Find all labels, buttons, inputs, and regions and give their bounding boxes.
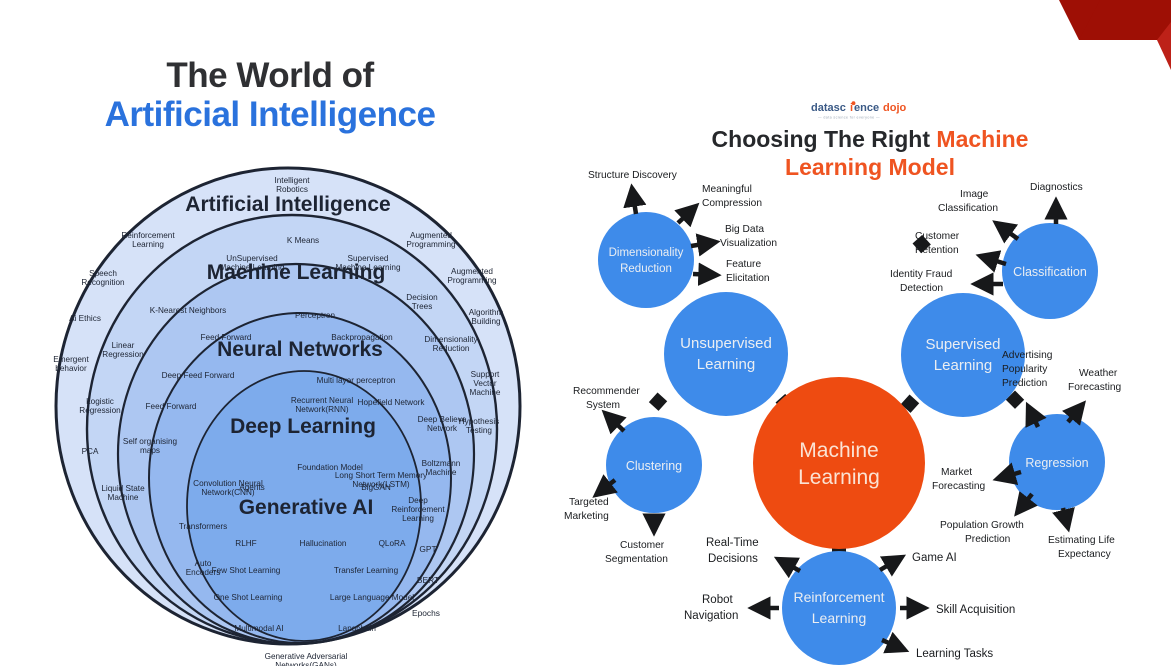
leaf-recommender-system-l2: System (586, 400, 620, 411)
unsupervised-label-line2: Learning (697, 356, 755, 373)
leaf-big-data-visualization-l2: Visualization (720, 238, 777, 249)
leaf-weather-forecasting-l2: Forecasting (1068, 382, 1122, 393)
gen-term-hallucination: Hallucination (300, 539, 347, 548)
ml-term-logistic-regression-l2: Regression (79, 406, 121, 415)
ml-term-dimensionality-reduction-l2: Reduction (433, 344, 470, 353)
node-unsupervised-learning (664, 292, 788, 416)
ml-term-logistic-regression-l1: Logistic (86, 397, 114, 406)
leaf-learning-tasks: Learning Tasks (916, 648, 993, 660)
leaf-meaningful-compression-l2: Compression (702, 198, 762, 209)
reinforcement-label-line2: Learning (812, 610, 867, 626)
dl-term-rnn-l1: Recurrent Neural (291, 396, 354, 405)
leaf-customer-segmentation-l2: Segmentation (605, 554, 668, 565)
leaf-image-classification-l1: Image (960, 189, 989, 200)
ai-term-augmented-programming-b-l2: Programming (447, 276, 497, 285)
nn-term-liquid-state-machine-l2: Machine (108, 493, 139, 502)
svg-text:— data science for everyone —: — data science for everyone — (818, 116, 880, 120)
unsupervised-label-line1: Unsupervised (680, 335, 772, 352)
ml-term-boltzmann-machine-l1: Boltzmann (422, 459, 461, 468)
supervised-label-line2: Learning (934, 357, 992, 374)
leaf-estimating-life-l1: Estimating Life (1048, 535, 1115, 546)
leaf-market-forecasting-l2: Forecasting (932, 481, 986, 492)
brand-logo: datasc i ence dojo — data science for ev… (560, 99, 1171, 121)
clustering-label: Clustering (626, 459, 682, 473)
nn-term-deep-reinforcement-learning-l1: Deep (408, 496, 428, 505)
svg-text:datasc: datasc (811, 102, 846, 114)
arrow-big-data-visualization (691, 242, 716, 246)
ml-model-map: Machine Learning Unsupervised Learning D… (560, 150, 1171, 672)
dl-term-lstm-l1: Long Short Term Memory (335, 471, 428, 480)
ai-term-augmented-programming-b-l1: Augmented (451, 267, 493, 276)
ml-term-k-means: K Means (287, 236, 319, 245)
ml-term-unsupervised-ml-l2: Machine Learning (219, 263, 285, 272)
leaf-customer-retention-l2: Retention (915, 245, 959, 256)
ai-term-speech-recognition-l1: Speech (89, 269, 117, 278)
right-title-highlight-1: Machine (936, 126, 1028, 152)
nn-term-feed-forward-a: Feed Forward (201, 333, 252, 342)
leaf-recommender-system-l1: Recommender (573, 386, 640, 397)
svg-text:ence: ence (854, 102, 879, 114)
nn-term-self-organising-maps-l1: Self organising (123, 437, 178, 446)
arrow-image-classification (996, 223, 1018, 239)
poster-canvas: The World of Artificial Intelligence Art… (0, 0, 1171, 672)
leaf-weather-forecasting-l1: Weather (1079, 368, 1118, 379)
nn-term-perceptron: Perceptron (295, 311, 335, 320)
ai-term-reinforcement-learning-l2: Learning (132, 240, 164, 249)
arrow-game-ai (880, 557, 902, 570)
nn-term-deep-feed-forward: Deep Feed Forward (162, 371, 235, 380)
gen-term-langchain: Langchain (338, 624, 376, 633)
ring-title-generative-ai: Generative AI (239, 496, 374, 519)
leaf-population-growth-l2: Prediction (965, 534, 1010, 545)
right-panel-ml-model-map: datasc i ence dojo — data science for ev… (560, 0, 1171, 672)
ring-title-artificial-intelligence: Artificial Intelligence (185, 193, 390, 216)
gen-term-transfer-learning: Transfer Learning (334, 566, 399, 575)
nn-term-liquid-state-machine-l1: Liquid State (101, 484, 145, 493)
leaf-image-classification-l2: Classification (938, 203, 998, 214)
arrow-estimating-life-expectancy (1063, 508, 1068, 528)
gen-term-agents: Agents (239, 483, 265, 492)
leaf-game-ai: Game AI (912, 552, 957, 564)
ai-term-speech-recognition-l2: Recognition (81, 278, 125, 287)
regression-label: Regression (1025, 456, 1088, 470)
leaf-real-time-decisions-l1: Real-Time (706, 537, 759, 549)
arrow-learning-tasks (882, 640, 905, 650)
leaf-structure-discovery: Structure Discovery (588, 170, 678, 181)
gen-term-gans-l1: Generative Adversarial (265, 652, 348, 661)
nn-term-backpropagation: Backpropagation (331, 333, 393, 342)
leaf-identity-fraud-detection-l1: Identity Fraud (890, 269, 953, 280)
ai-term-support-vector-machine-l1: Support (471, 370, 500, 379)
stub-unsup-clustering (649, 393, 667, 411)
ai-term-emergent-behavior-l2: behavior (55, 364, 87, 373)
leaf-customer-segmentation-l1: Customer (620, 540, 665, 551)
nn-term-self-organising-maps-l2: maps (140, 446, 160, 455)
left-title-line1: The World of (0, 58, 540, 95)
left-title-block: The World of Artificial Intelligence (0, 58, 540, 134)
ai-term-support-vector-machine-l3: Machine (470, 388, 501, 397)
ai-term-augmented-programming-a-l1: Augmented (410, 231, 452, 240)
gen-term-gans-l2: Networks(GANs) (275, 661, 337, 666)
dimred-label-line2: Reduction (620, 263, 672, 275)
leaf-customer-retention-l1: Customer (915, 231, 960, 242)
ml-term-pca: PCA (82, 447, 99, 456)
nn-term-feed-forward-b: Feed Forward (146, 402, 197, 411)
ml-term-linear-regression-l2: Regression (102, 350, 144, 359)
leaf-big-data-visualization-l1: Big Data (725, 224, 764, 235)
ml-term-unsupervised-ml-l1: UnSupervised (226, 254, 278, 263)
ai-term-hypothesis-testing-l2: Testing (466, 426, 492, 435)
leaf-robot-navigation-l1: Robot (702, 594, 733, 606)
gen-term-one-shot-learning: One Shot Learning (214, 593, 283, 602)
arrow-real-time-decisions (778, 559, 800, 571)
ml-term-supervised-ml-l1: Supervised (348, 254, 389, 263)
ai-term-augmented-programming-a-l2: Programming (406, 240, 456, 249)
leaf-feature-elicitation-l2: Elicitation (726, 273, 770, 284)
leaf-advertising-popularity-l2: Popularity (1002, 364, 1048, 375)
right-title-plain: Choosing The Right (712, 126, 937, 152)
leaf-diagnostics: Diagnostics (1030, 182, 1083, 193)
leaf-robot-navigation-l2: Navigation (684, 610, 738, 622)
left-panel-ai-venn: The World of Artificial Intelligence Art… (0, 0, 585, 672)
dl-term-transformers: Transformers (179, 522, 227, 531)
leaf-identity-fraud-detection-l2: Detection (900, 283, 943, 294)
ai-term-intelligent-robotics-l1: Intelligent (274, 176, 310, 185)
nn-term-multi-layer-perceptron: Multi layer perceptron (317, 376, 396, 385)
leaf-targeted-marketing-l2: Marketing (564, 511, 609, 522)
classification-label: Classification (1013, 265, 1087, 279)
ai-term-intelligent-robotics-l2: Robotics (276, 185, 308, 194)
gen-term-biggan: BigGAN (361, 483, 391, 492)
nn-term-deep-reinforcement-learning-l2: Reinforcement (391, 505, 445, 514)
node-machine-learning-center (753, 377, 925, 549)
dl-term-rnn-l2: Network(RNN) (295, 405, 348, 414)
reinforcement-label-line1: Reinforcement (793, 589, 884, 605)
ring-title-deep-learning: Deep Learning (230, 415, 376, 438)
arrow-structure-discovery (632, 188, 636, 214)
leaf-population-growth-l1: Population Growth (940, 520, 1024, 531)
nn-term-epochs: Epochs (412, 608, 440, 618)
svg-text:dojo: dojo (883, 102, 906, 114)
leaf-advertising-popularity-l1: Advertising (1002, 350, 1053, 361)
dimred-label-line1: Dimensionality (609, 247, 684, 259)
arrow-customer-retention (980, 256, 1006, 264)
datasciencedojo-logo-icon: datasc i ence dojo — data science for ev… (806, 99, 926, 121)
supervised-label-line1: Supervised (925, 336, 1000, 353)
nn-term-hopefield-network: Hopefield Network (358, 398, 426, 407)
center-label-line1: Machine (799, 439, 878, 462)
ml-term-k-nearest-neighbors: K-Nearest Neighbors (150, 306, 226, 315)
nn-term-gpt: GPT (419, 544, 436, 554)
node-dimensionality-reduction (598, 212, 694, 308)
ai-term-emergent-behavior-l1: Emergent (53, 355, 89, 364)
leaf-feature-elicitation-l1: Feature (726, 259, 761, 270)
arrow-meaningful-compression (678, 206, 696, 223)
ml-term-dimensionality-reduction-l1: Dimensionality (424, 335, 478, 344)
leaf-market-forecasting-l1: Market (941, 467, 972, 478)
arrow-recommender-system (605, 413, 624, 431)
leaf-skill-acquisition: Skill Acquisition (936, 604, 1015, 616)
svg-text:i: i (850, 102, 853, 114)
leaf-real-time-decisions-l2: Decisions (708, 553, 758, 565)
gen-term-few-shot-learning: Few Shot Learning (212, 566, 281, 575)
ai-term-ai-ethics: Ai Ethics (69, 314, 101, 323)
ml-term-deep-believe-network-l2: Network (427, 424, 458, 433)
ai-term-algorithm-building-l1: Algorithm (469, 308, 504, 317)
ai-term-reinforcement-learning-l1: Reinforcement (121, 231, 175, 240)
ml-term-linear-regression-l1: Linear (112, 341, 135, 350)
gen-term-multimodal-ai: Multimodal AI (234, 624, 283, 633)
ml-term-supervised-ml-l2: Machine Learning (335, 263, 401, 272)
center-label-line2: Learning (798, 466, 880, 489)
left-title-line2: Artificial Intelligence (0, 97, 540, 134)
ai-term-support-vector-machine-l2: Vector (473, 379, 496, 388)
leaf-advertising-popularity-l3: Prediction (1002, 378, 1047, 389)
nn-term-bert: BERT (417, 575, 439, 585)
dl-term-auto-encoders-l1: Auto (195, 559, 212, 568)
gen-term-qlora: QLoRA (379, 539, 406, 548)
leaf-meaningful-compression-l1: Meaningful (702, 184, 752, 195)
nn-term-deep-reinforcement-learning-l3: Learning (402, 514, 434, 523)
gen-term-rlhf: RLHF (235, 539, 256, 548)
ml-term-decision-trees-l1: Decision (406, 293, 438, 302)
arrow-feature-elicitation (693, 274, 717, 275)
ai-concentric-venn: Artificial Intelligence Machine Learning… (38, 166, 538, 666)
leaf-estimating-life-l2: Expectancy (1058, 549, 1112, 560)
ml-term-deep-believe-network-l1: Deep Believe (418, 415, 467, 424)
gen-term-foundation-model: Foundation Model (297, 463, 363, 472)
gen-term-large-language-model: Large Language Model (330, 593, 414, 602)
ml-term-decision-trees-l2: Trees (412, 302, 433, 311)
leaf-targeted-marketing-l1: Targeted (569, 497, 609, 508)
ml-term-boltzmann-machine-l2: Machine (426, 468, 457, 477)
ai-term-algorithm-building-l2: Building (471, 317, 501, 326)
